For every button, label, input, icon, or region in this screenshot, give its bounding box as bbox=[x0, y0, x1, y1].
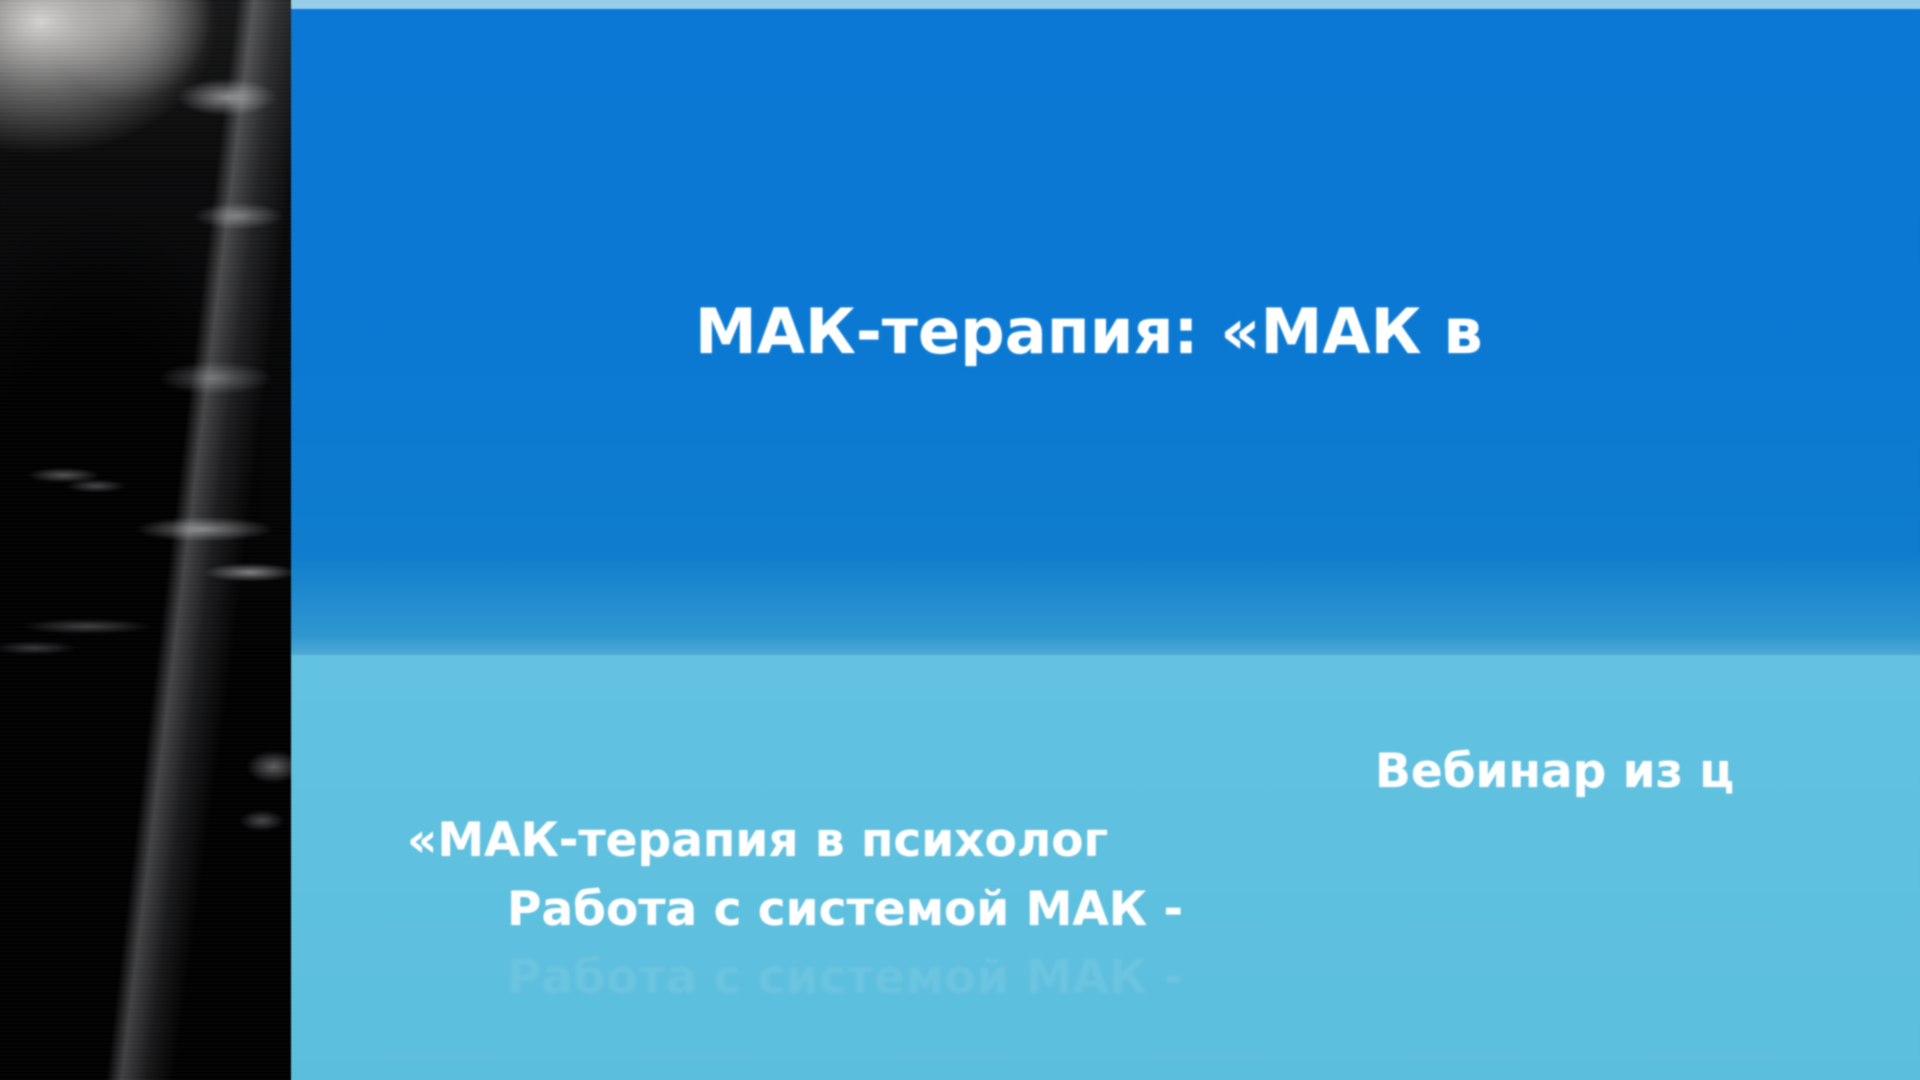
subtitle-line-3: Работа с системой МАК - bbox=[507, 875, 1920, 944]
slide-title: МАК-терапия: «МАК в bbox=[695, 299, 1483, 364]
subtitle-ghost-echo: Работа с системой МАК - bbox=[507, 950, 1920, 1006]
title-area: МАК-терапия: «МАК в bbox=[291, 9, 1920, 655]
slide-canvas: МАК-терапия: «МАК в Вебинар из ц «МАК-те… bbox=[0, 0, 1920, 1080]
subtitle-line-1: Вебинар из ц bbox=[1375, 737, 1920, 806]
subtitle-line-2: «МАК-терапия в психолог bbox=[407, 806, 1920, 875]
monochrome-photo-image bbox=[0, 0, 291, 1080]
subtitle-area: Вебинар из ц «МАК-терапия в психолог Раб… bbox=[291, 655, 1920, 1080]
left-photo-column bbox=[0, 0, 291, 1080]
